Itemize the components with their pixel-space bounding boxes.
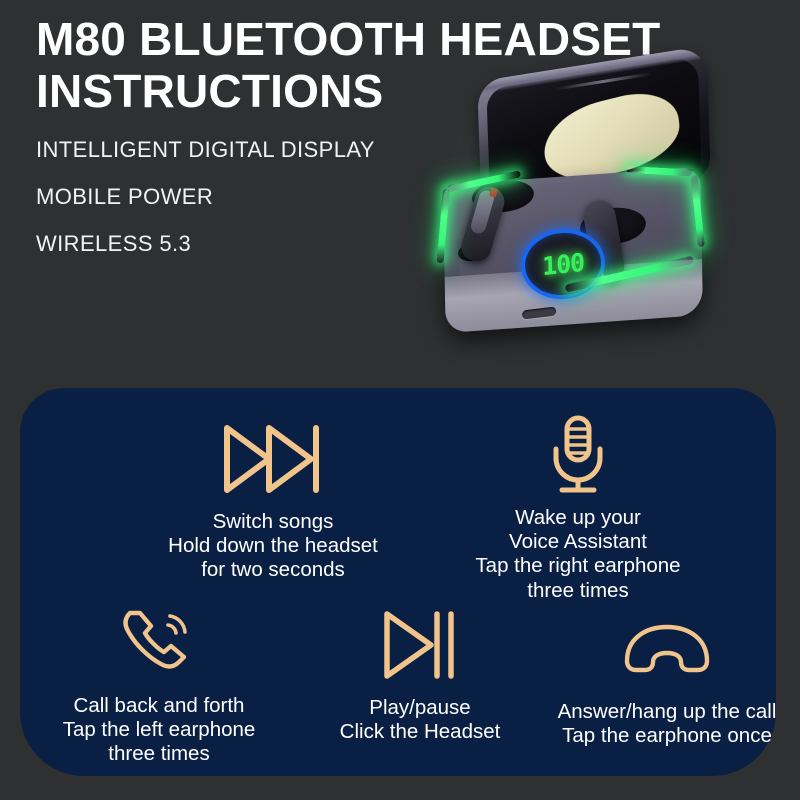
card-line: Wake up your bbox=[475, 506, 680, 530]
card-line: Tap the left earphone bbox=[63, 718, 256, 742]
card-line: Tap the earphone once bbox=[558, 724, 777, 748]
card-line: Play/pause bbox=[340, 696, 501, 720]
instruction-card-text: Wake up your Voice Assistant Tap the rig… bbox=[475, 506, 680, 603]
instruction-card-text: Switch songs Hold down the headset for t… bbox=[168, 510, 378, 583]
microphone-icon bbox=[545, 412, 611, 498]
card-line: for two seconds bbox=[168, 558, 378, 582]
product-photo: 100 bbox=[420, 58, 726, 374]
card-line: Switch songs bbox=[168, 510, 378, 534]
card-line: Hold down the headset bbox=[168, 534, 378, 558]
instruction-card-call-back-forth: Call back and forth Tap the left earphon… bbox=[20, 600, 298, 767]
card-line: Voice Assistant bbox=[475, 530, 680, 554]
card-line: Tap the right earphone bbox=[475, 554, 680, 578]
play-pause-icon bbox=[381, 602, 459, 688]
skip-forward-icon bbox=[221, 416, 325, 502]
instruction-card-play-pause: Play/pause Click the Headset bbox=[298, 602, 542, 744]
instruction-card-switch-songs: Switch songs Hold down the headset for t… bbox=[133, 416, 413, 583]
instruction-card-voice-assistant: Wake up your Voice Assistant Tap the rig… bbox=[428, 412, 728, 603]
instruction-card-text: Answer/hang up the call Tap the earphone… bbox=[558, 700, 777, 748]
instruction-page: M80 BLUETOOTH HEADSET INSTRUCTIONS INTEL… bbox=[0, 0, 800, 800]
instruction-grid: Switch songs Hold down the headset for t… bbox=[20, 388, 776, 776]
card-line: Click the Headset bbox=[340, 720, 501, 744]
instruction-card-answer-hangup: Answer/hang up the call Tap the earphone… bbox=[540, 606, 794, 748]
battery-level-value: 100 bbox=[542, 247, 585, 280]
card-line: three times bbox=[63, 742, 256, 766]
instruction-card-text: Play/pause Click the Headset bbox=[340, 696, 501, 744]
card-line: Call back and forth bbox=[63, 694, 256, 718]
usb-c-port-icon bbox=[522, 306, 556, 319]
instructions-panel: Switch songs Hold down the headset for t… bbox=[20, 388, 776, 776]
card-line: three times bbox=[475, 579, 680, 603]
phone-hangup-icon bbox=[621, 606, 713, 692]
phone-ringing-icon bbox=[116, 600, 202, 686]
card-line: Answer/hang up the call bbox=[558, 700, 777, 724]
instruction-card-text: Call back and forth Tap the left earphon… bbox=[63, 694, 256, 767]
